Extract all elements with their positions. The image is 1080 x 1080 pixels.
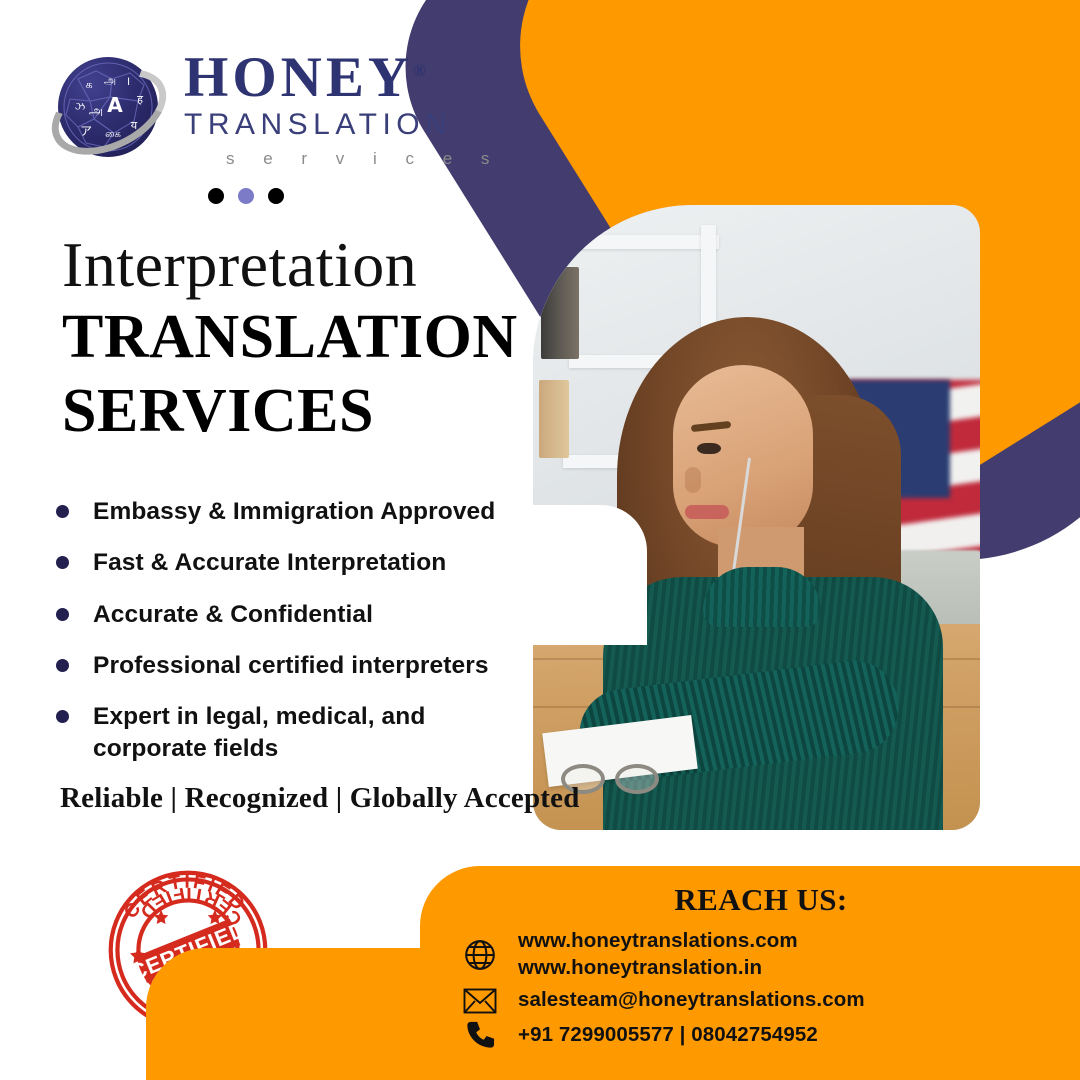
bullet-icon	[56, 710, 69, 723]
envelope-icon	[460, 988, 500, 1014]
feature-list: Embassy & Immigration Approved Fast & Ac…	[56, 496, 526, 784]
list-item-label: Accurate & Confidential	[93, 599, 373, 630]
globe-icon	[460, 938, 500, 972]
logo-subline: TRANSLATION	[184, 108, 501, 142]
logo-services-line: s e r v i c e s	[184, 149, 501, 169]
dot-icon	[238, 188, 254, 204]
title-script-line: Interpretation	[62, 232, 518, 297]
registered-trademark-icon: ®	[413, 61, 426, 80]
photo-corner-notch	[533, 505, 647, 645]
bullet-icon	[56, 659, 69, 672]
list-item-label: Embassy & Immigration Approved	[93, 496, 495, 527]
bullet-icon	[56, 556, 69, 569]
interpreter-photo	[533, 205, 980, 830]
phone-number[interactable]: +91 7299005577 | 08042754952	[518, 1022, 818, 1049]
title-line-2: SERVICES	[62, 377, 518, 445]
contact-panel: REACH US: www.honeytranslations.com www.…	[146, 866, 1080, 1080]
photo-nose	[685, 467, 701, 493]
contact-heading: REACH US:	[460, 882, 1062, 918]
list-item: Accurate & Confidential	[56, 599, 526, 630]
list-item: Professional certified interpreters	[56, 650, 526, 681]
logo-wordmark: HONEY®	[184, 50, 501, 106]
bullet-icon	[56, 505, 69, 518]
page-title: Interpretation TRANSLATION SERVICES	[62, 232, 518, 446]
website-line-2[interactable]: www.honeytranslation.in	[518, 956, 762, 979]
list-item-label: Professional certified interpreters	[93, 650, 489, 681]
phone-icon	[460, 1020, 500, 1050]
contact-row-website[interactable]: www.honeytranslations.com www.honeytrans…	[460, 928, 1062, 981]
logo-wordmark-text: HONEY	[184, 46, 413, 109]
list-item: Embassy & Immigration Approved	[56, 496, 526, 527]
bullet-icon	[56, 608, 69, 621]
brand-logo: க அ । ઝ A ह அ ア கை य HONEY® TRANSLAT	[50, 48, 501, 169]
photo-shelf	[569, 235, 719, 249]
contact-row-phone[interactable]: +91 7299005577 | 08042754952	[460, 1020, 1062, 1050]
decorative-dots	[208, 188, 284, 204]
tagline: Reliable | Recognized | Globally Accepte…	[60, 782, 580, 815]
list-item-label: Expert in legal, medical, and corporate …	[93, 701, 526, 764]
list-item: Expert in legal, medical, and corporate …	[56, 701, 526, 764]
poster-canvas: க அ । ઝ A ह அ ア கை य HONEY® TRANSLAT	[0, 0, 1080, 1080]
contact-row-email[interactable]: salesteam@honeytranslations.com	[460, 987, 1062, 1014]
photo-face	[673, 365, 813, 547]
title-line-1: TRANSLATION	[62, 303, 518, 371]
website-line-1[interactable]: www.honeytranslations.com	[518, 929, 798, 952]
dot-icon	[268, 188, 284, 204]
photo-book	[539, 380, 569, 458]
email-address[interactable]: salesteam@honeytranslations.com	[518, 987, 865, 1014]
photo-book	[541, 267, 579, 359]
globe-icon: க அ । ઝ A ह அ ア கை य	[50, 49, 168, 167]
list-item: Fast & Accurate Interpretation	[56, 547, 526, 578]
list-item-label: Fast & Accurate Interpretation	[93, 547, 446, 578]
photo-sweater-collar	[703, 567, 821, 627]
photo-eye	[697, 443, 721, 454]
photo-lips	[685, 505, 729, 519]
dot-icon	[208, 188, 224, 204]
